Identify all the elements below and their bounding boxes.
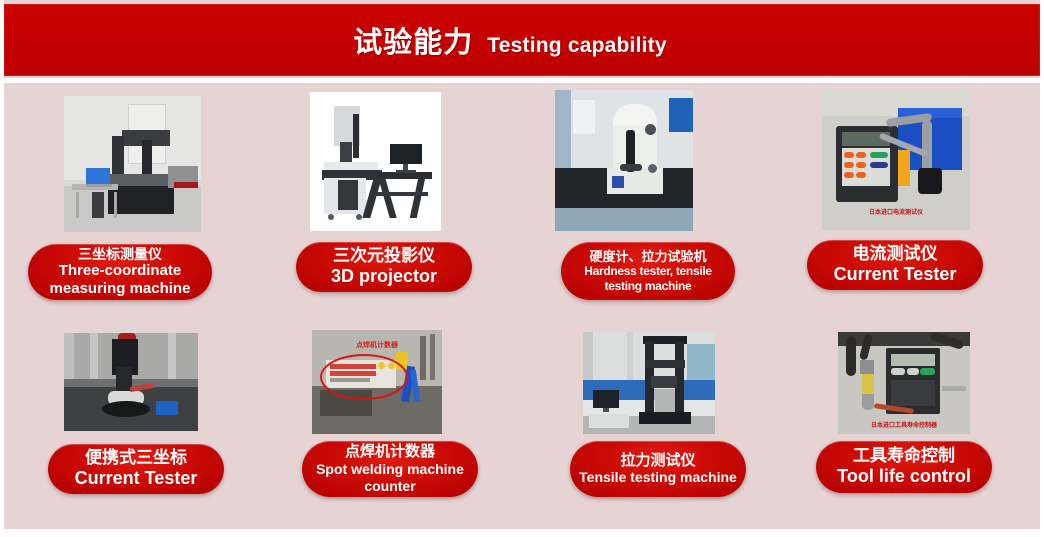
card-label-en: 3D projector — [331, 266, 437, 288]
header-banner: 试验能力 Testing capability — [4, 4, 1040, 76]
header-divider — [0, 78, 1044, 83]
card-label-cn: 便携式三坐标 — [85, 448, 187, 468]
card-label-en: Current Tester — [75, 468, 198, 490]
card-label-pill[interactable]: 硬度计、拉力试验机 Hardness tester, tensile testi… — [561, 242, 735, 300]
card-label-pill[interactable]: 电流测试仪 Current Tester — [807, 240, 983, 290]
card-label-cn: 三次元投影仪 — [333, 246, 435, 266]
card-label-cn: 工具寿命控制 — [853, 446, 955, 466]
bottom-margin — [0, 529, 1044, 537]
card-photo — [64, 333, 198, 431]
card-photo — [583, 332, 715, 434]
header-title-group: 试验能力 Testing capability — [353, 19, 666, 61]
card-photo — [310, 92, 441, 231]
card-photo: 日本进口工具寿命控制器 — [838, 332, 970, 434]
card-label-pill[interactable]: 拉力测试仪 Tensile testing machine — [570, 441, 746, 497]
card-photo — [64, 96, 201, 232]
capability-grid: 三坐标测量仪 Three-coordinate measuring machin… — [0, 84, 1044, 529]
card-label-en: Tensile testing machine — [579, 469, 737, 486]
card-label-cn: 拉力测试仪 — [620, 452, 695, 470]
card-label-cn: 电流测试仪 — [853, 244, 938, 264]
card-label-en: Current Tester — [834, 264, 957, 286]
card-photo: 日本进口电流测试仪 — [822, 90, 970, 230]
page-title-cn: 试验能力 — [353, 19, 473, 61]
card-label-en: Hardness tester, tensile testing machine — [569, 264, 727, 293]
card-label-en: Three-coordinate measuring machine — [36, 262, 204, 298]
slide-root: 试验能力 Testing capability — [0, 0, 1044, 537]
card-label-pill[interactable]: 便携式三坐标 Current Tester — [48, 444, 224, 494]
page-title-en: Testing capability — [487, 34, 666, 58]
card-label-cn: 点焊机计数器 — [345, 443, 435, 461]
card-label-cn: 三坐标测量仪 — [78, 246, 162, 263]
card-photo: 点焊机计数器 — [312, 330, 442, 434]
card-label-pill[interactable]: 三次元投影仪 3D projector — [296, 242, 472, 292]
photo-caption: 日本进口电流测试仪 — [822, 207, 970, 216]
card-label-en: Spot welding machine counter — [310, 461, 470, 495]
card-label-pill[interactable]: 三坐标测量仪 Three-coordinate measuring machin… — [28, 244, 212, 300]
card-label-en: Tool life control — [837, 466, 971, 488]
card-label-pill[interactable]: 点焊机计数器 Spot welding machine counter — [302, 441, 478, 497]
photo-caption: 日本进口工具寿命控制器 — [838, 420, 970, 429]
card-label-pill[interactable]: 工具寿命控制 Tool life control — [816, 441, 992, 493]
photo-caption: 点焊机计数器 — [312, 340, 442, 350]
card-label-cn: 硬度计、拉力试验机 — [589, 249, 706, 264]
card-photo — [555, 90, 693, 231]
